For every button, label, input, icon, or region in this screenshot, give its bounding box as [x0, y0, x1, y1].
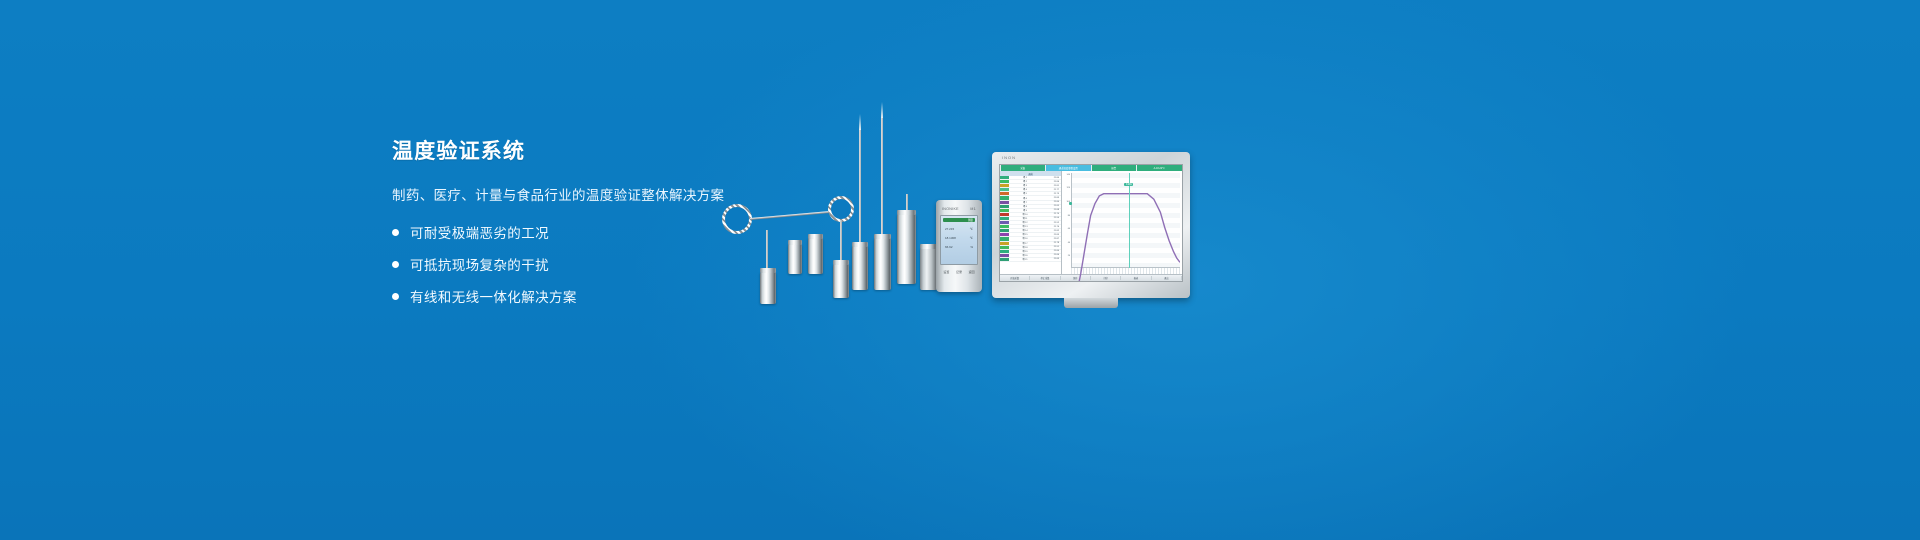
channel-value-cell: 21.91 — [1041, 246, 1061, 248]
logger-cap — [788, 240, 802, 245]
channel-value-cell: 21.83 — [1041, 258, 1061, 260]
channel-color-swatch — [1000, 237, 1009, 240]
feature-label: 有线和无线一体化解决方案 — [410, 286, 577, 306]
channel-color-swatch — [1000, 192, 1009, 195]
logger-cap — [833, 260, 849, 265]
product-image-group: INONIKE M1 测量 27.215 ℃ 18.1308 ℃ 66.92 % — [700, 110, 1220, 320]
reader-reading-value: 27.215 — [945, 227, 954, 231]
channel-name-cell: 通 20 — [1009, 254, 1041, 257]
channel-color-swatch — [1000, 205, 1009, 208]
channel-value-cell: 21.81 — [1041, 185, 1061, 187]
feature-label: 可抵抗现场复杂的干扰 — [410, 254, 549, 274]
channel-color-swatch — [1000, 201, 1009, 204]
logger-cap — [897, 210, 916, 215]
channel-name-cell: 通 6 — [1009, 197, 1041, 200]
y-axis: 140 120 100 80 60 40 20 — [1062, 171, 1071, 268]
reader-reading-unit: % — [970, 245, 973, 249]
logger-body — [897, 214, 916, 284]
chart-annotation-tag: 灭菌段 — [1124, 183, 1133, 186]
reader-brand-label: INONIKE — [942, 207, 959, 211]
reader-screen: 测量 27.215 ℃ 18.1308 ℃ 66.92 % — [940, 215, 978, 265]
reader-button-row[interactable]: 设置 记录 返回 — [940, 270, 978, 274]
channel-value-cell: 21.83 — [1041, 197, 1061, 199]
software-screen: 采集 通道温度参数设置 报警 A-18-22℃ 通道 通 121.84通 221… — [999, 164, 1183, 282]
channel-name-cell: 通 12 — [1009, 221, 1041, 224]
channel-name-cell: 通 21 — [1009, 258, 1041, 261]
reader-reading-value: 66.92 — [945, 245, 953, 249]
channel-value-cell: 21.78 — [1041, 242, 1061, 244]
channel-value-cell: 21.92 — [1041, 222, 1061, 224]
channel-name-cell: 通 7 — [1009, 201, 1041, 204]
channel-color-swatch — [1000, 217, 1009, 220]
chart-cursor-tag — [1069, 202, 1072, 205]
logger-body — [852, 246, 868, 290]
channel-table[interactable]: 通道 通 121.84通 221.86通 321.81通 421.77通 521… — [1000, 171, 1062, 274]
logger-body — [760, 272, 776, 304]
channel-name-cell: 通 13 — [1009, 225, 1041, 228]
coiled-probe-icon — [722, 204, 752, 234]
logger-body — [874, 238, 891, 290]
software-body: 通道 通 121.84通 221.86通 321.81通 421.77通 521… — [1000, 171, 1182, 274]
feature-label: 可耐受极端恶劣的工况 — [410, 222, 549, 242]
channel-color-swatch — [1000, 246, 1009, 249]
logger-body — [920, 248, 937, 290]
y-tick: 80 — [1068, 215, 1070, 217]
channel-value-cell: 21.84 — [1041, 177, 1061, 179]
logger-body — [833, 264, 849, 298]
reader-button[interactable]: 记录 — [956, 270, 962, 274]
channel-color-swatch — [1000, 221, 1009, 224]
channel-value-cell: 21.86 — [1041, 254, 1061, 256]
chart-marker-line — [1129, 173, 1130, 268]
needle-probe-icon — [859, 130, 861, 248]
monitor-stand — [1064, 298, 1118, 308]
reader-button[interactable]: 返回 — [969, 270, 975, 274]
reader-screen-titlebar: 测量 — [943, 218, 975, 222]
bullet-dot-icon — [392, 293, 399, 300]
chart-series-svg — [1071, 173, 1180, 282]
y-tick: 20 — [1068, 255, 1070, 257]
y-tick: 120 — [1067, 187, 1070, 189]
channel-color-swatch — [1000, 225, 1009, 228]
channel-name-cell: 通 16 — [1009, 237, 1041, 240]
status-button[interactable]: 开始采集 — [1000, 276, 1030, 280]
logger-body — [808, 238, 823, 274]
reader-reading-unit: ℃ — [970, 227, 973, 231]
channel-color-swatch — [1000, 250, 1009, 253]
monitor-brand-label: INON — [1002, 155, 1016, 160]
handheld-reader-device[interactable]: INONIKE M1 测量 27.215 ℃ 18.1308 ℃ 66.92 % — [936, 200, 982, 292]
table-rows-container: 通 121.84通 221.86通 321.81通 421.77通 521.79… — [1000, 176, 1061, 262]
reader-button[interactable]: 设置 — [943, 270, 949, 274]
hero-banner: 温度验证系统 制药、医疗、计量与食品行业的温度验证整体解决方案 可耐受极端恶劣的… — [0, 0, 1920, 540]
bullet-dot-icon — [392, 229, 399, 236]
reader-branding: INONIKE M1 — [940, 207, 978, 211]
channel-value-cell: 21.76 — [1041, 226, 1061, 228]
logger-cap — [760, 268, 776, 273]
channel-value-cell: 21.85 — [1041, 205, 1061, 207]
reader-reading-value: 18.1308 — [945, 236, 956, 240]
channel-name-cell: 通 14 — [1009, 229, 1041, 232]
channel-name-cell: 通 9 — [1009, 209, 1041, 212]
reader-reading-row: 18.1308 ℃ — [943, 236, 975, 240]
reader-reading-unit: ℃ — [970, 236, 973, 240]
bullet-dot-icon — [392, 261, 399, 268]
reader-screen-title: 测量 — [968, 218, 975, 222]
logger-cap — [920, 244, 937, 249]
channel-value-cell: 21.82 — [1041, 230, 1061, 232]
coiled-probe-icon — [828, 196, 854, 222]
channel-name-cell: 通 2 — [1009, 180, 1041, 183]
channel-color-swatch — [1000, 258, 1009, 261]
table-row[interactable]: 通 2121.83 — [1000, 258, 1061, 262]
channel-name-cell: 通 11 — [1009, 217, 1041, 220]
channel-color-swatch — [1000, 242, 1009, 245]
y-tick: 60 — [1068, 228, 1070, 230]
channel-color-swatch — [1000, 233, 1009, 236]
channel-value-cell: 21.77 — [1041, 189, 1061, 191]
channel-name-cell: 通 19 — [1009, 250, 1041, 253]
logger-cap — [852, 242, 868, 247]
channel-value-cell: 21.74 — [1041, 213, 1061, 215]
channel-name-cell: 通 15 — [1009, 233, 1041, 236]
monitor-device: INON 采集 通道温度参数设置 报警 A-18-22℃ 通道 通 121.84… — [992, 152, 1190, 298]
logger-cap — [808, 234, 823, 239]
channel-value-cell: 21.79 — [1041, 193, 1061, 195]
channel-name-cell: 通 5 — [1009, 192, 1041, 195]
channel-color-swatch — [1000, 229, 1009, 232]
y-tick: 140 — [1067, 174, 1070, 176]
logger-body — [788, 244, 802, 274]
channel-color-swatch — [1000, 196, 1009, 199]
reader-model-label: M1 — [970, 207, 976, 211]
channel-value-cell: 21.87 — [1041, 238, 1061, 240]
channel-name-cell: 通 3 — [1009, 184, 1041, 187]
channel-value-cell: 21.89 — [1041, 234, 1061, 236]
y-tick: 40 — [1068, 242, 1070, 244]
reader-reading-row: 66.92 % — [943, 245, 975, 249]
logger-cap — [874, 234, 891, 239]
channel-value-cell: 21.88 — [1041, 209, 1061, 211]
channel-color-swatch — [1000, 213, 1009, 216]
status-button[interactable]: 停止采集 — [1030, 276, 1060, 280]
channel-name-cell: 通 8 — [1009, 205, 1041, 208]
needle-probe-icon — [881, 118, 883, 240]
temperature-chart: 140 120 100 80 60 40 20 — [1062, 171, 1182, 274]
channel-color-swatch — [1000, 176, 1009, 179]
channel-name-cell: 通 17 — [1009, 242, 1041, 245]
channel-name-cell: 通 4 — [1009, 188, 1041, 191]
reader-reading-row: 27.215 ℃ — [943, 227, 975, 231]
channel-name-cell: 通 18 — [1009, 246, 1041, 249]
channel-color-swatch — [1000, 254, 1009, 257]
channel-name-cell: 通 1 — [1009, 176, 1041, 179]
channel-color-swatch — [1000, 188, 1009, 191]
channel-value-cell: 21.90 — [1041, 217, 1061, 219]
channel-color-swatch — [1000, 209, 1009, 212]
channel-value-cell: 21.86 — [1041, 181, 1061, 183]
channel-value-cell: 21.84 — [1041, 250, 1061, 252]
channel-color-swatch — [1000, 184, 1009, 187]
channel-name-cell: 通 10 — [1009, 213, 1041, 216]
series-line — [1071, 194, 1180, 282]
channel-value-cell: 21.80 — [1041, 201, 1061, 203]
channel-color-swatch — [1000, 180, 1009, 183]
